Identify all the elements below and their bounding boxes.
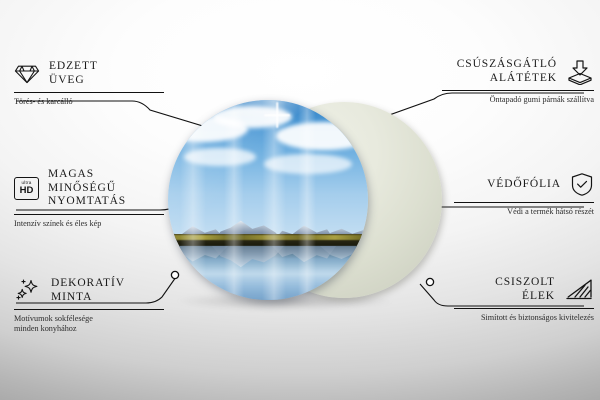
feature-subtitle: Intenzív színek és éles kép (14, 219, 164, 229)
shore-grass (168, 235, 368, 240)
feature-header: CSISZOLT ÉLEK (454, 276, 594, 303)
feature-divider (454, 202, 594, 203)
sparkles-icon (14, 278, 42, 304)
shield-check-icon (570, 172, 594, 197)
feature-magas-minosegu-nyomtatas: ultra HD MAGAS MINŐSÉGŰ NYOMTATÁS Intenz… (14, 168, 164, 229)
feature-title: EDZETT ÜVEG (49, 60, 98, 87)
infographic-canvas: EDZETT ÜVEG Törés- és karcálló ultra HD … (0, 0, 600, 400)
feature-title: MAGAS MINŐSÉGŰ NYOMTATÁS (48, 168, 164, 209)
product-image (168, 100, 400, 300)
feature-header: CSÚSZÁSGÁTLÓ ALÁTÉTEK (442, 58, 594, 85)
feature-title: CSÚSZÁSGÁTLÓ ALÁTÉTEK (457, 58, 557, 85)
feature-divider (14, 214, 164, 215)
hatched-triangle-icon (564, 278, 594, 302)
ultra-hd-icon: ultra HD (14, 177, 39, 200)
cloud (264, 154, 352, 174)
feature-divider (454, 308, 594, 309)
connector-dot (426, 278, 433, 285)
feature-divider (14, 92, 164, 93)
feature-subtitle: Simított és biztonságos kivitelezés (454, 313, 594, 323)
feature-title: DEKORATÍV MINTA (51, 277, 125, 304)
arrow-down-onto-pad-icon (566, 59, 594, 85)
cloud (276, 122, 368, 150)
feature-dekorativ-minta: DEKORATÍV MINTA Motívumok sokfélesége mi… (14, 277, 164, 334)
feature-title: CSISZOLT ÉLEK (495, 276, 555, 303)
feature-vedofolia: VÉDŐFÓLIA Védi a termék hátsó részét (454, 172, 594, 217)
feature-header: EDZETT ÜVEG (14, 60, 164, 87)
cloud (212, 106, 292, 128)
ultra-hd-icon-big-text: HD (20, 186, 34, 196)
feature-divider (442, 90, 594, 91)
feature-edzett-uveg: EDZETT ÜVEG Törés- és karcálló (14, 60, 164, 107)
water-reflection-overlay (168, 246, 368, 300)
feature-title: VÉDŐFÓLIA (487, 178, 561, 192)
feature-subtitle: Védi a termék hátsó részét (454, 207, 594, 217)
feature-divider (14, 309, 164, 310)
cloud (184, 148, 256, 166)
feature-header: ultra HD MAGAS MINŐSÉGŰ NYOMTATÁS (14, 168, 164, 209)
feature-header: VÉDŐFÓLIA (454, 172, 594, 197)
feature-csiszolt-elek: CSISZOLT ÉLEK Simított és biztonságos ki… (454, 276, 594, 323)
feature-subtitle: Motívumok sokfélesége minden konyhához (14, 314, 164, 334)
feature-subtitle: Öntapadó gumi párnák szállítva (442, 95, 594, 105)
landscape-scene (168, 100, 368, 300)
feature-subtitle: Törés- és karcálló (14, 97, 164, 107)
feature-header: DEKORATÍV MINTA (14, 277, 164, 304)
diamond-icon (14, 63, 40, 85)
feature-csuszasgatlo-alatetek: CSÚSZÁSGÁTLÓ ALÁTÉTEK Öntapadó gumi párn… (442, 58, 594, 105)
front-disc-printed (168, 100, 368, 300)
